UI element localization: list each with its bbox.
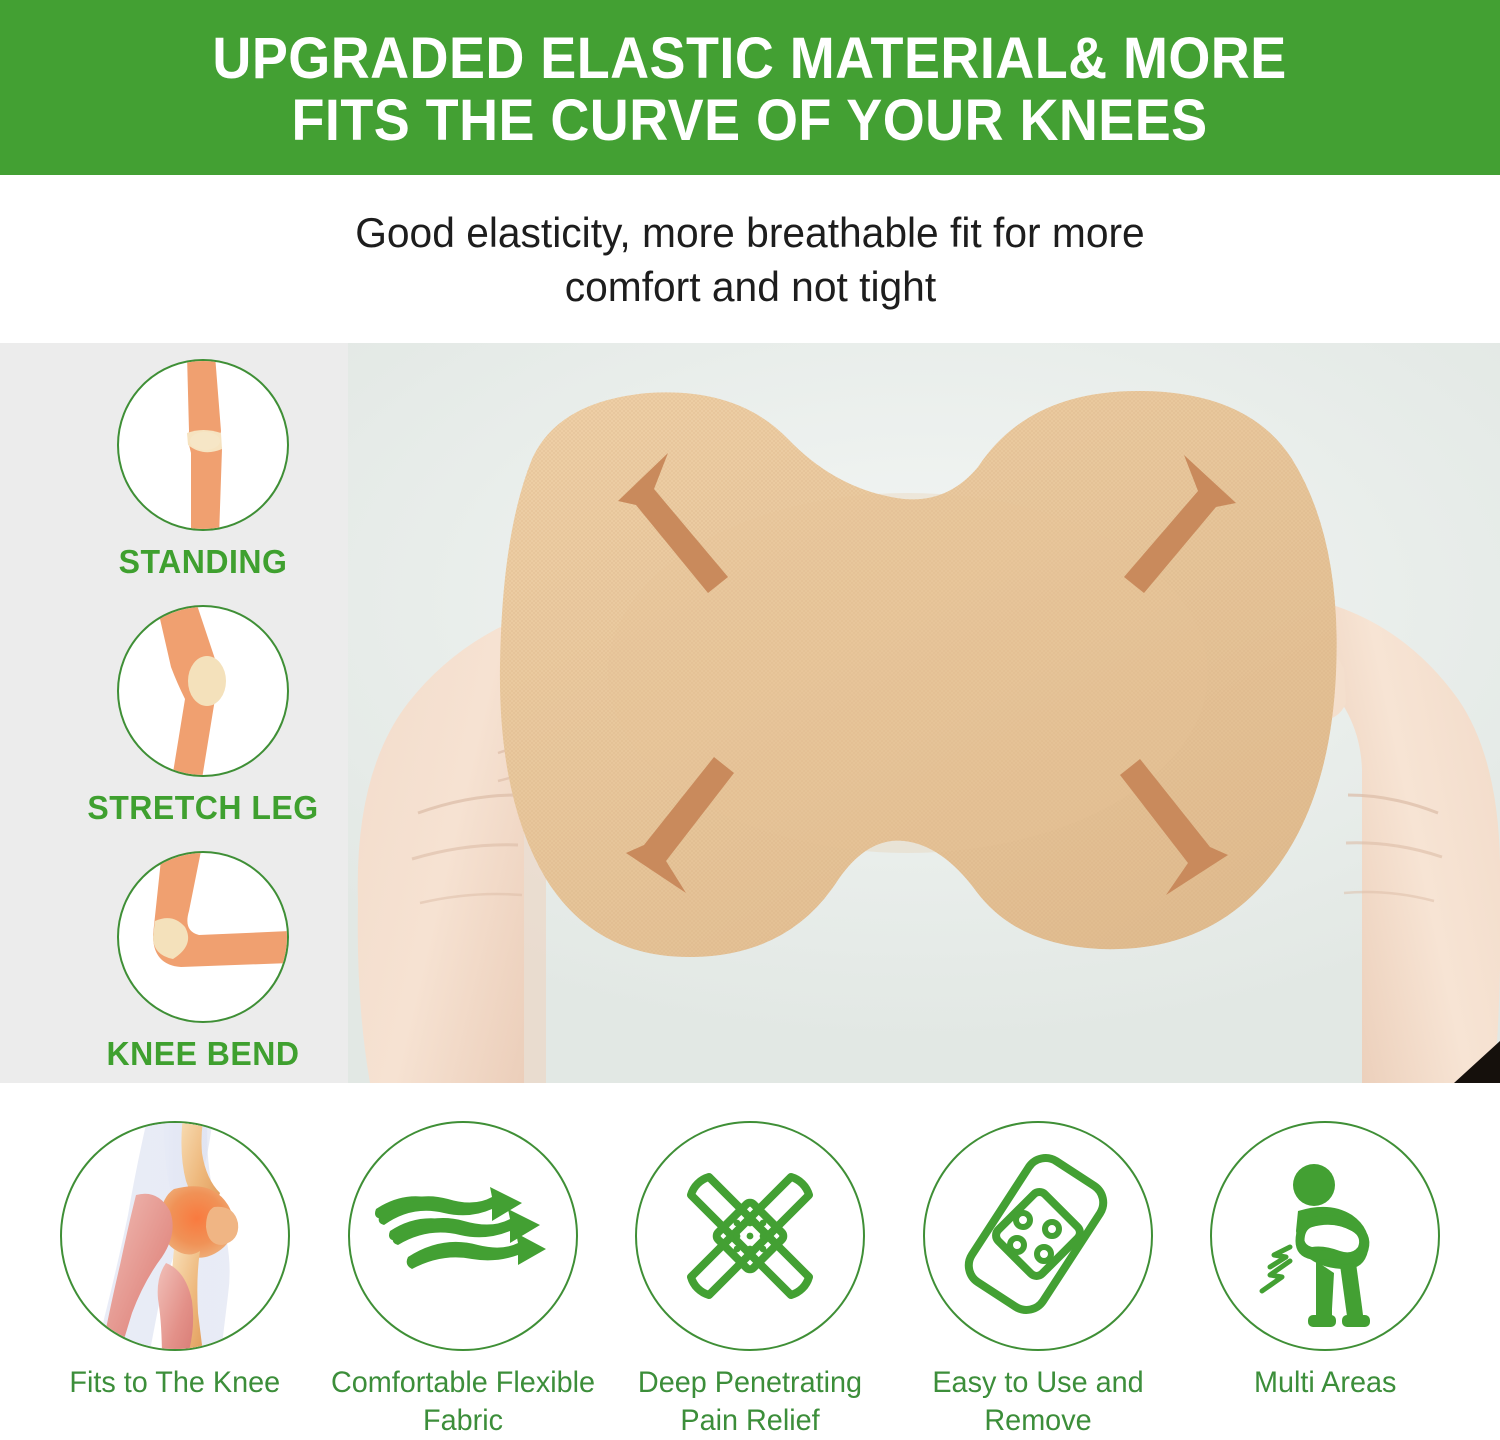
features-row: Fits to The Knee Comfortable Flexible Fa… xyxy=(0,1083,1500,1440)
pose-column: STANDING STRETCH LEG KNEE BEND xyxy=(58,355,348,1071)
leg-stretch-icon xyxy=(117,605,289,777)
product-photo xyxy=(348,343,1500,1083)
knee-anatomy-icon xyxy=(60,1121,290,1351)
feature-fits-to-the-knee: Fits to The Knee xyxy=(34,1121,316,1402)
header-title-line1: UPGRADED ELASTIC MATERIAL& MORE xyxy=(213,28,1287,90)
middle-panel: STANDING STRETCH LEG KNEE BEND xyxy=(0,343,1500,1083)
feature-label-fits-to-the-knee: Fits to The Knee xyxy=(70,1364,281,1402)
leg-straight-icon xyxy=(117,359,289,531)
header-title-line2: FITS THE CURVE OF YOUR KNEES xyxy=(292,90,1208,152)
feature-multi-areas: Multi Areas xyxy=(1184,1121,1466,1402)
pose-label-standing: STANDING xyxy=(62,543,343,581)
pose-label-knee-bend: KNEE BEND xyxy=(62,1035,343,1073)
knee-patch xyxy=(500,391,1337,957)
pose-item-stretch-leg: STRETCH LEG xyxy=(58,605,348,827)
leg-bent-icon xyxy=(117,851,289,1023)
feature-label-comfortable-flexible-fabric: Comfortable Flexible Fabric xyxy=(327,1364,598,1440)
pose-item-knee-bend: KNEE BEND xyxy=(58,851,348,1073)
feature-label-multi-areas: Multi Areas xyxy=(1254,1364,1396,1402)
pose-label-stretch-leg: STRETCH LEG xyxy=(62,789,343,827)
airflow-waves-icon xyxy=(348,1121,578,1351)
subtitle-block: Good elasticity, more breathable fit for… xyxy=(0,180,1500,340)
sleeve-corner xyxy=(1454,1041,1500,1083)
pose-item-standing: STANDING xyxy=(58,359,348,581)
subtitle-line1: Good elasticity, more breathable fit for… xyxy=(355,206,1145,260)
patch-tilted-icon xyxy=(923,1121,1153,1351)
feature-easy-to-use-and-remove: Easy to Use and Remove xyxy=(897,1121,1179,1440)
person-back-pain-icon xyxy=(1210,1121,1440,1351)
crossed-bandage-icon xyxy=(635,1121,865,1351)
feature-deep-penetrating-pain-relief: Deep Penetrating Pain Relief xyxy=(609,1121,891,1440)
feature-label-deep-penetrating-pain-relief: Deep Penetrating Pain Relief xyxy=(615,1364,886,1440)
subtitle-line2: comfort and not tight xyxy=(564,260,935,314)
header-banner: UPGRADED ELASTIC MATERIAL& MORE FITS THE… xyxy=(0,0,1500,175)
feature-label-easy-to-use-and-remove: Easy to Use and Remove xyxy=(902,1364,1173,1440)
feature-comfortable-flexible-fabric: Comfortable Flexible Fabric xyxy=(322,1121,604,1440)
